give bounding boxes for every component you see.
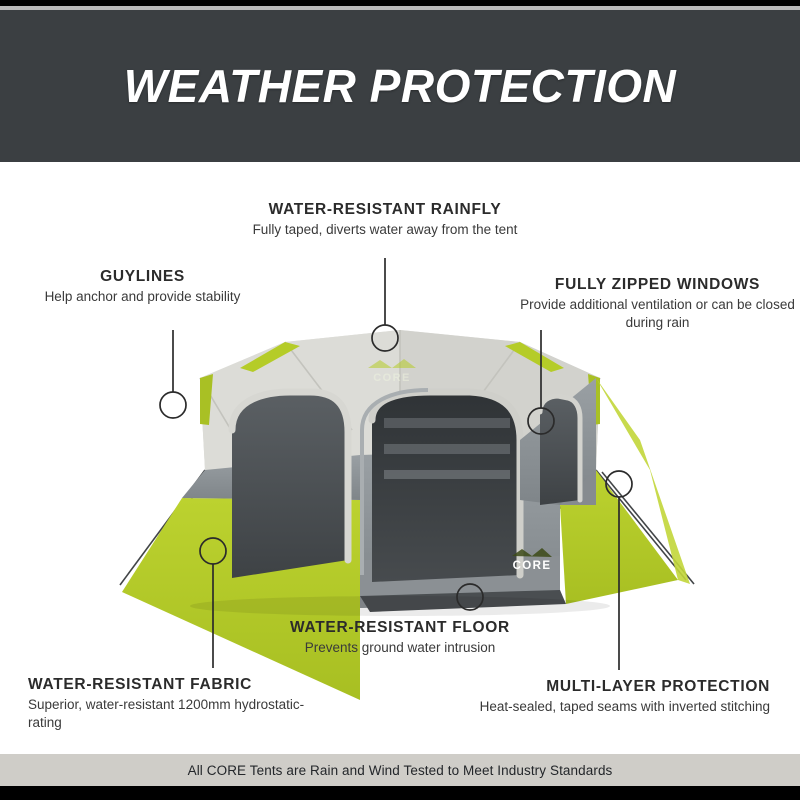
callout-guylines-desc: Help anchor and provide stability	[30, 288, 255, 306]
callout-rainfly: WATER-RESISTANT RAINFLY Fully taped, div…	[215, 200, 555, 239]
callout-fabric-desc: Superior, water-resistant 1200mm hydrost…	[28, 696, 328, 731]
callout-floor: WATER-RESISTANT FLOOR Prevents ground wa…	[250, 618, 550, 657]
page-title: WEATHER PROTECTION	[0, 10, 800, 162]
callout-multilayer: MULTI-LAYER PROTECTION Heat-sealed, tape…	[465, 677, 770, 716]
footer-black-strip	[0, 786, 800, 800]
callout-windows-desc: Provide additional ventilation or can be…	[520, 296, 795, 331]
callout-rainfly-title: WATER-RESISTANT RAINFLY	[215, 200, 555, 219]
callout-rainfly-desc: Fully taped, diverts water away from the…	[215, 221, 555, 239]
svg-text:CORE: CORE	[373, 372, 410, 384]
callout-guylines-title: GUYLINES	[30, 267, 255, 286]
callout-floor-desc: Prevents ground water intrusion	[250, 639, 550, 657]
callout-multilayer-desc: Heat-sealed, taped seams with inverted s…	[465, 698, 770, 716]
callout-windows: FULLY ZIPPED WINDOWS Provide additional …	[520, 275, 795, 331]
window-left-mesh	[232, 392, 348, 578]
footer-text: All CORE Tents are Rain and Wind Tested …	[188, 763, 613, 778]
tent-ground-shadow	[190, 596, 610, 616]
callout-windows-title: FULLY ZIPPED WINDOWS	[520, 275, 795, 294]
callout-guylines: GUYLINES Help anchor and provide stabili…	[30, 267, 255, 306]
callout-floor-title: WATER-RESISTANT FLOOR	[250, 618, 550, 637]
header-banner: WEATHER PROTECTION	[0, 10, 800, 162]
window-right-mesh	[540, 396, 580, 505]
svg-text:CORE: CORE	[513, 560, 552, 572]
leader-dot-guylines	[160, 392, 186, 418]
footer-bar: All CORE Tents are Rain and Wind Tested …	[0, 754, 800, 786]
infographic-page: WEATHER PROTECTION	[0, 0, 800, 800]
callout-multilayer-title: MULTI-LAYER PROTECTION	[465, 677, 770, 696]
callout-fabric: WATER-RESISTANT FABRIC Superior, water-r…	[28, 675, 328, 731]
callout-fabric-title: WATER-RESISTANT FABRIC	[28, 675, 328, 694]
